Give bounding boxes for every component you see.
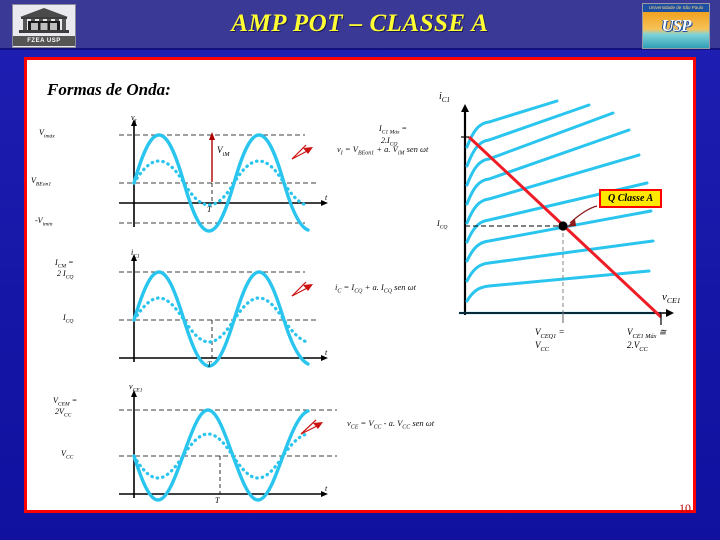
slide-header: FZEA USP AMP POT – CLASSE A Universidade… (0, 0, 720, 50)
wave-vi-svg (87, 115, 347, 235)
load-line-vceq-value: VCC (535, 340, 549, 353)
wave-vi-ytick-min: -Vimín (35, 216, 53, 228)
wave-ic-chart: iC1 ICM = 2 ICQ ICQ T t (87, 250, 347, 370)
wave-vce-period-label: T (215, 496, 219, 505)
wave-vce-ytick-max-value: 2VCC (55, 407, 71, 419)
wave-vce-x-axis-label: t (325, 484, 327, 493)
load-line-y-axis-label: iC1 (439, 91, 450, 104)
wave-vi-x-axis-label: t (325, 193, 327, 202)
wave-vi-chart: vI Vimáx VBEon1 -Vimín ViM T t (87, 115, 347, 235)
wave-ic-equation: iC = ICQ + a. ICQ sen ωt (335, 282, 416, 295)
wave-vce-y-axis-label: vCE1 (129, 382, 143, 394)
content-frame: Formas de Onda: (24, 57, 696, 513)
load-line-ic-max-value: 2.ICQ (381, 136, 397, 148)
load-line-vce-max-value: 2.VCC (627, 340, 648, 353)
usp-logo-top-text: Universidade de São Paulo (643, 4, 709, 12)
wave-ic-y-axis-label: iC1 (131, 248, 140, 260)
wave-vi-ytick-bias: VBEon1 (31, 176, 51, 188)
load-line-svg (417, 95, 697, 355)
wave-vce-ytick-q: VCC (61, 449, 73, 461)
load-line-vceq-label: VCEQ1 = (535, 327, 565, 340)
wave-ic-ytick-q: ICQ (63, 313, 73, 325)
load-line-ic-max-label: IC1 Máx = (379, 124, 407, 136)
wave-vi-period-label: T (207, 205, 211, 214)
wave-ic-x-axis-label: t (325, 348, 327, 357)
wave-ic-period-label: T (207, 360, 211, 369)
load-line-x-axis-label: vCE1 (662, 291, 681, 305)
page-title: AMP POT – CLASSE A (0, 0, 720, 48)
wave-vi-ytick-max: Vimáx (39, 128, 55, 140)
usp-logo: Universidade de São Paulo USP (642, 3, 710, 49)
slide: FZEA USP AMP POT – CLASSE A Universidade… (0, 0, 720, 540)
q-point-callout[interactable]: Q Classe A (599, 189, 662, 208)
wave-ic-svg (87, 250, 347, 370)
wave-vi-y-axis-label: vI (131, 113, 136, 125)
wave-vce-chart: vCE1 VCEM = 2VCC VCC T t (87, 382, 347, 507)
wave-vce-equation: vCE = VCC - a. VCC sen ωt (347, 418, 434, 431)
page-number: 10 (679, 501, 691, 516)
wave-vce-svg (87, 382, 347, 507)
load-line-chart: iC1 vCE1 IC1 Máx = 2.ICQ ICQ VCEQ1 = (417, 95, 697, 385)
q-point-marker (558, 221, 567, 230)
load-line-icq-label: ICQ (437, 219, 447, 231)
section-title: Formas de Onda: (47, 80, 171, 100)
load-line-vce-max-label: VCE1 Máx ≅ (627, 327, 666, 340)
wave-ic-ytick-max-value: 2 ICQ (57, 269, 73, 281)
wave-vce-ytick-max: VCEM = (53, 396, 77, 408)
wave-vi-amplitude-label: ViM (217, 145, 230, 158)
wave-ic-ytick-max: ICM = (55, 258, 73, 270)
usp-logo-mark: USP (643, 16, 709, 36)
